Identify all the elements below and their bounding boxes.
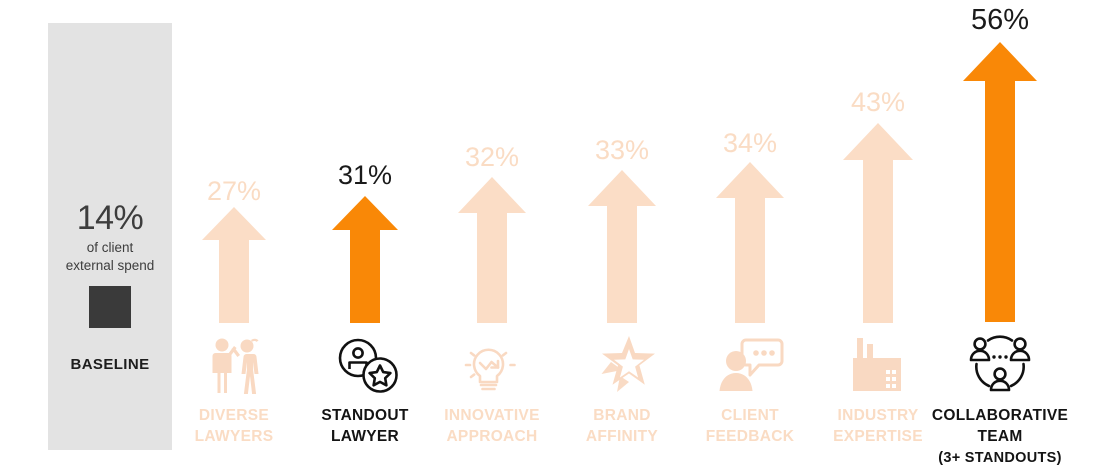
value-label-diverse-lawyers: 27%: [170, 178, 298, 205]
arrow-collaborative-team: [963, 42, 1037, 322]
value-label-industry-expertise: 43%: [814, 89, 942, 116]
arrow-industry-expertise: [843, 123, 913, 323]
label-line3: (3+ STANDOUTS): [930, 448, 1070, 468]
arrow-diverse-lawyers: [202, 207, 266, 323]
label-line1: INDUSTRY: [837, 407, 918, 424]
three-people-network-icon: [963, 332, 1037, 396]
person-speech-bubble-icon: [713, 332, 787, 396]
arrow-brand-affinity: [588, 170, 656, 323]
factory-icon: [841, 332, 915, 396]
arrow-client-feedback: [716, 162, 784, 323]
category-label-diverse-lawyers: DIVERSE LAWYERS: [164, 405, 304, 448]
label-line2: TEAM: [977, 428, 1022, 445]
value-label-client-feedback: 34%: [686, 130, 814, 157]
column-collaborative-team[interactable]: 56%: [936, 0, 1064, 471]
dark-square-swatch-icon: [89, 286, 131, 328]
label-line1: COLLABORATIVE: [932, 407, 1068, 424]
baseline-subtitle: of client external spend: [48, 239, 172, 275]
label-line1: CLIENT: [721, 407, 779, 424]
infographic-canvas: 14% of client external spend BASELINE 27…: [0, 0, 1120, 471]
baseline-label: BASELINE: [48, 356, 172, 373]
category-label-client-feedback: CLIENT FEEDBACK: [680, 405, 820, 448]
label-line2: FEEDBACK: [706, 428, 795, 445]
column-standout-lawyer[interactable]: 31% STANDOUT LAWYER: [301, 0, 429, 471]
baseline-subtitle-line2: external spend: [66, 258, 155, 273]
label-line2: EXPERTISE: [833, 428, 923, 445]
label-line1: STANDOUT: [321, 407, 408, 424]
column-client-feedback[interactable]: 34% CLIENT: [686, 0, 814, 471]
column-innovative-approach[interactable]: 32% INNOVATIVE APPROACH: [428, 0, 556, 471]
lightbulb-growth-arrow-icon: [455, 332, 529, 396]
person-badge-star-icon: [328, 332, 402, 396]
category-label-collaborative-team: COLLABORATIVE TEAM (3+ STANDOUTS): [930, 405, 1070, 468]
baseline-panel: 14% of client external spend BASELINE: [48, 23, 172, 450]
column-brand-affinity[interactable]: 33% BRAND AFFINITY: [558, 0, 686, 471]
category-label-industry-expertise: INDUSTRY EXPERTISE: [808, 405, 948, 448]
category-label-standout-lawyer: STANDOUT LAWYER: [295, 405, 435, 448]
label-line1: DIVERSE: [199, 407, 269, 424]
column-industry-expertise[interactable]: 43% INDU: [814, 0, 942, 471]
label-line2: LAWYERS: [195, 428, 274, 445]
two-people-high-five-icon: [197, 332, 271, 396]
baseline-subtitle-line1: of client: [87, 240, 134, 255]
value-label-innovative-approach: 32%: [428, 144, 556, 171]
category-label-brand-affinity: BRAND AFFINITY: [552, 405, 692, 448]
value-label-collaborative-team: 56%: [936, 6, 1064, 35]
star-icon: [585, 332, 659, 396]
arrow-innovative-approach: [458, 177, 526, 323]
baseline-percent: 14%: [48, 201, 172, 235]
label-line2: LAWYER: [331, 428, 399, 445]
column-diverse-lawyers[interactable]: 27% DIVERSE LAWYERS: [170, 0, 298, 471]
arrow-standout-lawyer: [332, 196, 398, 323]
label-line2: AFFINITY: [586, 428, 658, 445]
label-line1: INNOVATIVE: [444, 407, 539, 424]
value-label-standout-lawyer: 31%: [301, 162, 429, 189]
value-label-brand-affinity: 33%: [558, 137, 686, 164]
label-line2: APPROACH: [446, 428, 537, 445]
label-line1: BRAND: [593, 407, 650, 424]
category-label-innovative-approach: INNOVATIVE APPROACH: [422, 405, 562, 448]
